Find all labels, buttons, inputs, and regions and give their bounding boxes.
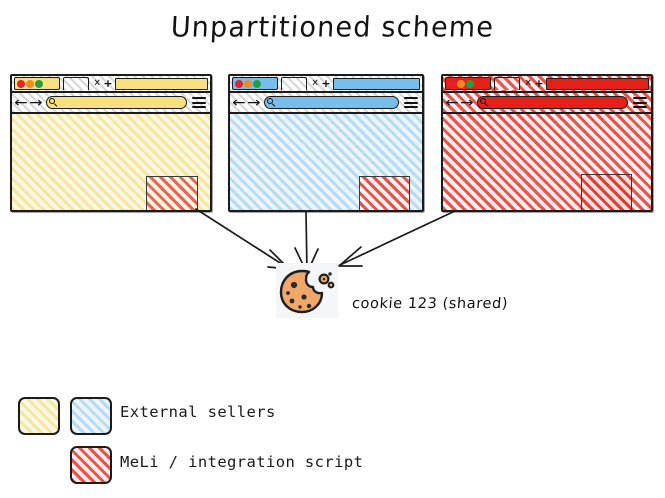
page-viewport [230,114,422,210]
legend-label-external-sellers: External sellers [120,403,276,421]
cookie-label: cookie 123 (shared) [351,296,508,312]
back-arrow-icon[interactable]: ← [445,96,458,110]
traffic-light-orange-dot [244,80,252,88]
traffic-light-green-dot [253,80,261,88]
tab-favicon-group [445,77,491,90]
plus-icon[interactable]: + [534,78,543,89]
back-arrow-icon[interactable]: ← [232,96,245,110]
navigation-bar: ← → [230,93,422,114]
tab-strip: ✕ + [443,76,651,93]
search-icon [49,98,58,107]
address-bar[interactable] [264,96,399,109]
background-tab[interactable] [494,77,520,90]
traffic-light-red-dot [17,80,25,88]
plus-icon[interactable]: + [103,78,112,89]
legend-label-meli-integration-script: MeLi / integration script [120,453,363,471]
tab-strip: ✕ + [230,76,422,93]
active-tab[interactable] [546,78,649,90]
address-bar[interactable] [46,96,187,109]
traffic-light-red-dot [448,80,456,88]
shared-cookie-node [276,263,338,318]
tab-favicon-group [14,77,60,90]
forward-arrow-icon[interactable]: → [247,96,260,110]
traffic-light-orange-dot [26,80,34,88]
address-bar[interactable] [477,96,628,109]
arrow-meli-head [339,247,362,266]
page-viewport [12,114,210,210]
hamburger-menu-icon[interactable] [404,97,418,108]
navigation-bar: ← → [12,93,210,114]
legend-swatch-external-yellow [18,397,60,435]
back-arrow-icon[interactable]: ← [14,96,27,110]
traffic-light-green-dot [466,80,474,88]
close-icon[interactable]: ✕ [312,79,319,89]
traffic-light-red-dot [235,80,243,88]
search-icon [480,98,489,107]
close-icon[interactable]: ✕ [94,79,101,89]
page-viewport [443,114,651,210]
browser-window-external-seller-2[interactable]: ✕ + ← → [228,74,424,212]
traffic-light-green-dot [35,80,43,88]
search-icon [267,98,276,107]
legend-swatch-external-blue [70,397,112,435]
navigation-bar: ← → [443,93,651,114]
traffic-light-orange-dot [457,80,465,88]
integration-script-iframe [146,176,198,212]
forward-arrow-icon[interactable]: → [460,96,473,110]
hamburger-menu-icon[interactable] [192,97,206,108]
tab-favicon-group [232,77,278,90]
hamburger-menu-icon[interactable] [633,97,647,108]
background-tab[interactable] [281,77,307,90]
forward-arrow-icon[interactable]: → [29,96,42,110]
background-tab[interactable] [63,77,89,90]
browser-window-external-seller-1[interactable]: ✕ + ← → [10,74,212,212]
tab-strip: ✕ + [12,76,210,93]
close-icon[interactable]: ✕ [525,79,532,89]
integration-script-iframe [359,176,410,212]
integration-script-iframe [581,174,632,212]
active-tab[interactable] [333,78,420,90]
arrow-meli-to-cookie [340,211,455,265]
legend-swatch-meli [70,446,112,484]
active-tab[interactable] [115,78,208,90]
browser-window-meli[interactable]: ✕ + ← → [441,74,653,212]
cookie-icon [276,263,338,318]
page-title: Unpartitioned scheme [0,11,665,43]
plus-icon[interactable]: + [321,78,330,89]
arrow-seller1-to-cookie [196,209,288,268]
